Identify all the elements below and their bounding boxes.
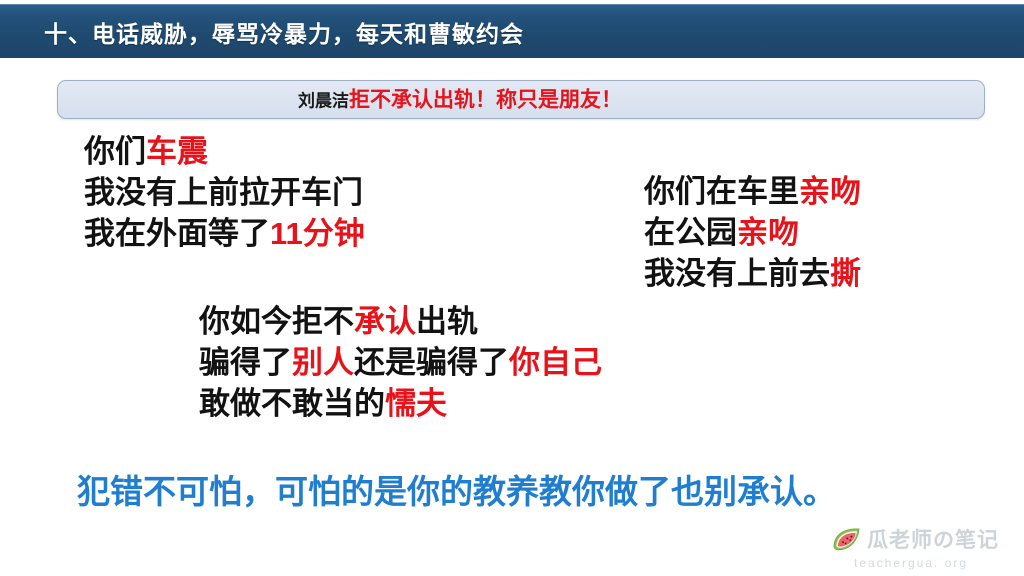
- quote-line: 我没有上前去撕: [644, 254, 861, 295]
- highlighted-text: 亲吻: [737, 215, 799, 250]
- quote-block-left: 你们车震我没有上前拉开车门我在外面等了11分钟: [84, 132, 365, 255]
- slide-canvas: 十、电话威胁，辱骂冷暴力，每天和曹敏约会 刘晨洁拒不承认出轨！称只是朋友！ 你们…: [0, 0, 1024, 576]
- plain-text: 敢做不敢当的: [199, 386, 385, 421]
- header-title: 十、电话威胁，辱骂冷暴力，每天和曹敏约会: [44, 15, 524, 49]
- conclusion-line: 犯错不可怕，可怕的是你的教养教你做了也别承认。: [77, 465, 836, 513]
- plain-text: 在公园: [644, 215, 737, 250]
- plain-text: 我没有上前拉开车门: [84, 175, 363, 210]
- highlighted-text: 承认: [354, 304, 416, 339]
- plain-text: 我在外面等了: [84, 216, 270, 251]
- quote-line: 你们车震: [84, 132, 365, 173]
- watermark-url: teachergua. org: [854, 556, 1012, 570]
- subtitle-box: 刘晨洁拒不承认出轨！称只是朋友！: [57, 80, 985, 119]
- quote-line: 敢做不敢当的懦夫: [199, 384, 602, 425]
- plain-text: 我没有上前去: [644, 256, 830, 291]
- quote-line: 你们在车里亲吻: [644, 172, 861, 213]
- highlighted-text: 11分钟: [270, 216, 365, 251]
- quote-block-right: 你们在车里亲吻在公园亲吻我没有上前去撕: [644, 172, 861, 295]
- highlighted-text: 亲吻: [799, 174, 861, 209]
- quote-block-middle: 你如今拒不承认出轨骗得了别人还是骗得了你自己敢做不敢当的懦夫: [199, 302, 602, 425]
- subtitle-statement: 拒不承认出轨！称只是朋友！: [349, 88, 622, 111]
- plain-text: 骗得了: [199, 345, 292, 380]
- watermark: 瓜老师の笔记 teachergua. org: [832, 524, 1012, 572]
- quote-line: 在公园亲吻: [644, 213, 861, 254]
- highlighted-text: 你自己: [509, 345, 602, 380]
- watermark-brand: 瓜老师の笔记: [867, 524, 999, 554]
- plain-text: 你如今拒不: [199, 304, 354, 339]
- plain-text: 出轨: [416, 304, 478, 339]
- quote-line: 我在外面等了11分钟: [84, 214, 365, 255]
- subtitle-text: 刘晨洁拒不承认出轨！称只是朋友！: [298, 89, 622, 110]
- plain-text: 你们在车里: [644, 174, 799, 209]
- highlighted-text: 别人: [292, 345, 354, 380]
- plain-text: 你们: [84, 134, 146, 169]
- highlighted-text: 懦夫: [385, 386, 447, 421]
- watermark-row: 瓜老师の笔记: [832, 524, 1012, 554]
- quote-line: 骗得了别人还是骗得了你自己: [199, 343, 602, 384]
- highlighted-text: 撕: [830, 256, 861, 291]
- quote-line: 我没有上前拉开车门: [84, 173, 365, 214]
- header-bar: 十、电话威胁，辱骂冷暴力，每天和曹敏约会: [0, 4, 1024, 58]
- quote-line: 你如今拒不承认出轨: [199, 302, 602, 343]
- plain-text: 还是骗得了: [354, 345, 509, 380]
- subtitle-person-name: 刘晨洁: [298, 91, 349, 110]
- highlighted-text: 车震: [146, 134, 208, 169]
- watermelon-icon: [832, 526, 862, 552]
